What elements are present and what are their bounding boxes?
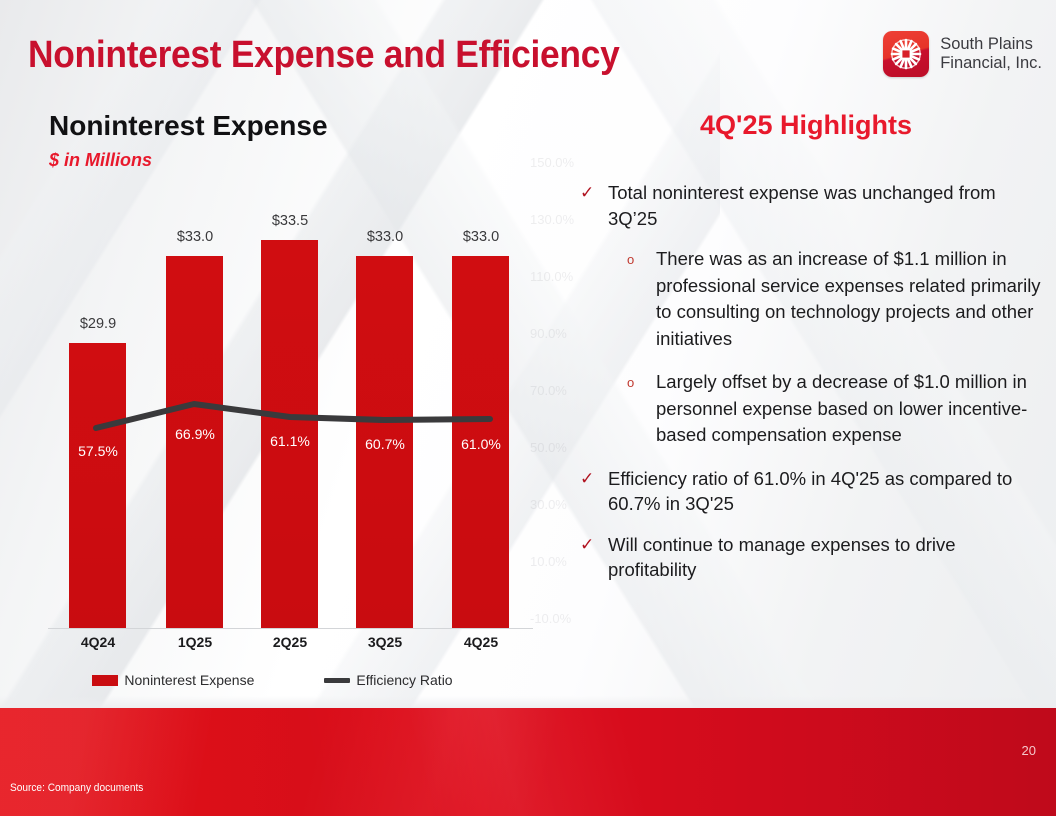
legend-swatch-bar-icon: [92, 675, 118, 686]
category-label-1q25: 1Q25: [155, 634, 235, 650]
check-icon: ✓: [580, 180, 596, 205]
company-logo: South Plains Financial, Inc.: [883, 31, 1042, 77]
legend-label: Noninterest Expense: [124, 672, 254, 688]
list-item: ✓ Total noninterest expense was unchange…: [580, 180, 1046, 231]
category-label-2q25: 2Q25: [250, 634, 330, 650]
footer-band: [0, 708, 1056, 816]
list-item: o There was as an increase of $1.1 milli…: [627, 246, 1046, 352]
chart-legend: Noninterest Expense Efficiency Ratio: [0, 672, 545, 688]
bar-value-label: $33.0: [345, 229, 425, 245]
ghost-axis-tick: 150.0%: [530, 155, 574, 170]
ratio-value-label: 57.5%: [58, 443, 138, 459]
legend-swatch-line-icon: [324, 678, 350, 683]
check-icon: ✓: [580, 532, 596, 557]
list-item-text: Will continue to manage expenses to driv…: [608, 532, 1046, 583]
legend-item-noninterest-expense: Noninterest Expense: [92, 672, 254, 688]
efficiency-ratio-line: [0, 190, 545, 640]
legend-label: Efficiency Ratio: [356, 672, 452, 688]
check-icon: ✓: [580, 466, 596, 491]
ratio-value-label: 61.1%: [250, 433, 330, 449]
ratio-value-label: 61.0%: [441, 436, 521, 452]
footer-fade: [0, 696, 1056, 708]
highlights-list: ✓ Total noninterest expense was unchange…: [580, 180, 1046, 598]
category-label-4q24: 4Q24: [58, 634, 138, 650]
noninterest-expense-chart: 150.0% 130.0% 110.0% 90.0% 70.0% 50.0% 3…: [0, 190, 545, 700]
list-item: ✓ Efficiency ratio of 61.0% in 4Q'25 as …: [580, 466, 1046, 517]
sunburst-wheel-icon: [883, 31, 929, 77]
chart-title: Noninterest Expense: [49, 110, 328, 142]
bar-value-label: $29.9: [58, 316, 138, 332]
logo-text: South Plains Financial, Inc.: [940, 35, 1042, 73]
slide: Noninterest Expense and Efficiency: [0, 0, 1056, 816]
page-title: Noninterest Expense and Efficiency: [28, 34, 619, 77]
list-item-text: There was as an increase of $1.1 million…: [656, 246, 1046, 352]
category-label-4q25: 4Q25: [441, 634, 521, 650]
logo-line-2: Financial, Inc.: [940, 54, 1042, 73]
source-note: Source: Company documents: [10, 782, 143, 794]
ratio-value-label: 60.7%: [345, 436, 425, 452]
legend-item-efficiency-ratio: Efficiency Ratio: [324, 672, 452, 688]
list-item: ✓ Will continue to manage expenses to dr…: [580, 532, 1046, 583]
list-item-text: Total noninterest expense was unchanged …: [608, 180, 1046, 231]
chart-plot-area: 150.0% 130.0% 110.0% 90.0% 70.0% 50.0% 3…: [0, 190, 545, 640]
list-item-text: Largely offset by a decrease of $1.0 mil…: [656, 369, 1046, 449]
ratio-value-label: 66.9%: [155, 426, 235, 442]
bar-value-label: $33.0: [155, 229, 235, 245]
page-number: 20: [1022, 743, 1036, 758]
chart-subtitle: $ in Millions: [49, 150, 152, 171]
category-label-3q25: 3Q25: [345, 634, 425, 650]
highlights-title: 4Q'25 Highlights: [596, 110, 1016, 141]
circle-bullet-icon: o: [627, 246, 638, 273]
bar-value-label: $33.5: [250, 213, 330, 229]
circle-bullet-icon: o: [627, 369, 638, 396]
logo-line-1: South Plains: [940, 35, 1042, 54]
list-item-text: Efficiency ratio of 61.0% in 4Q'25 as co…: [608, 466, 1046, 517]
list-item: o Largely offset by a decrease of $1.0 m…: [627, 369, 1046, 449]
bar-value-label: $33.0: [441, 229, 521, 245]
